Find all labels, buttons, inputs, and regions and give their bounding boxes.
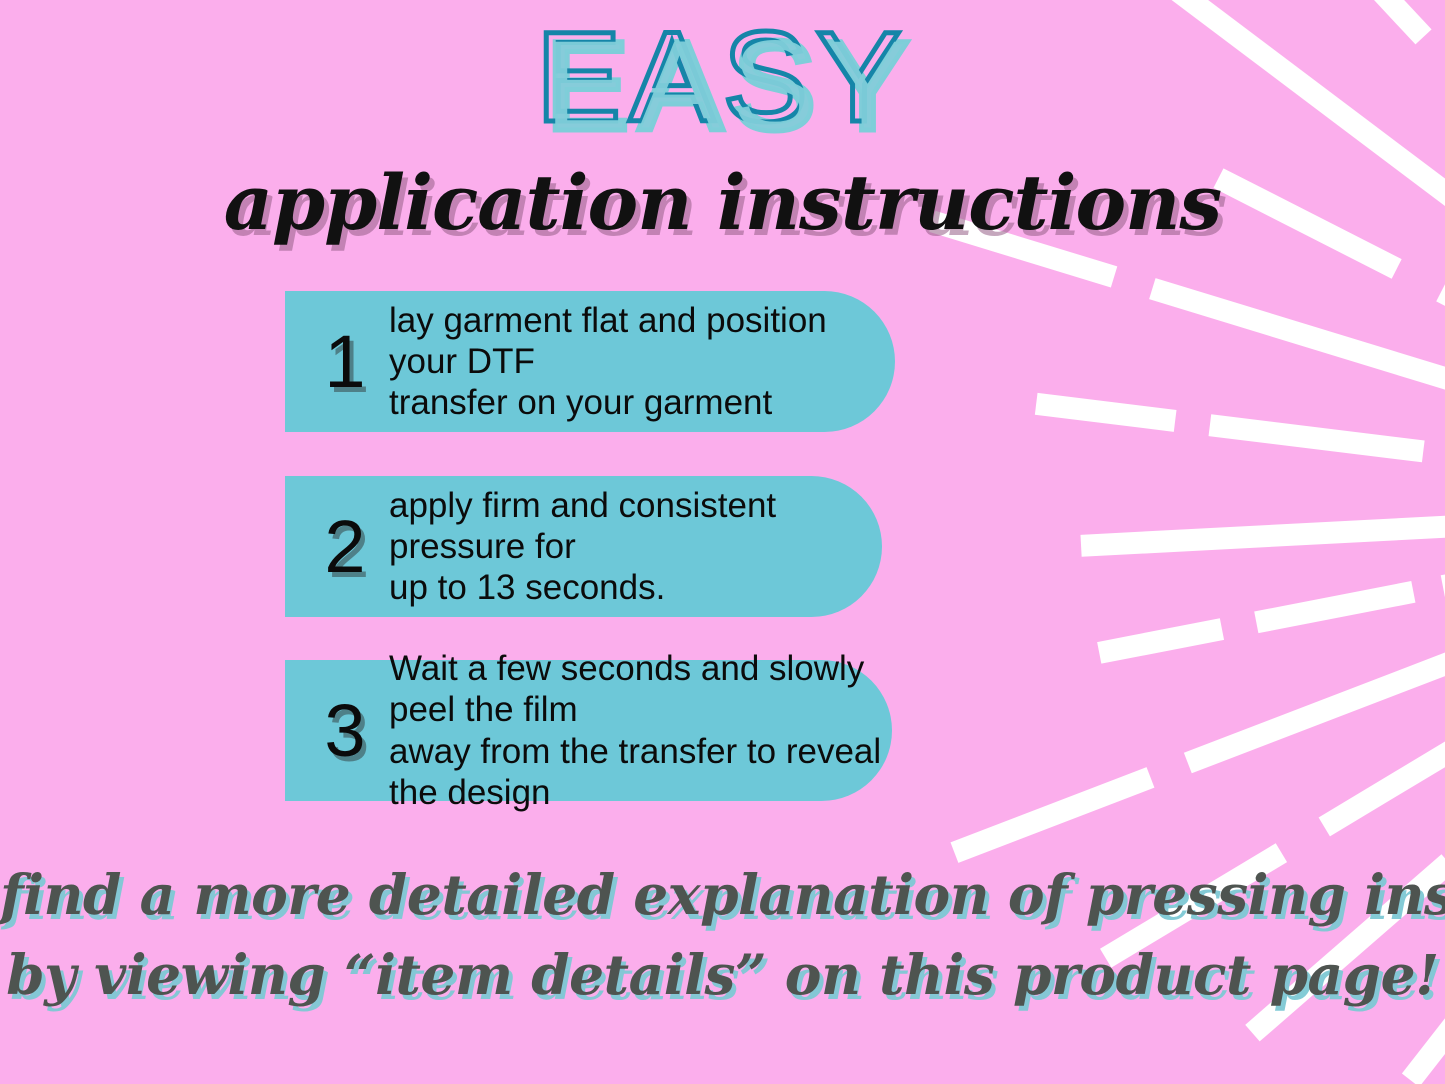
ray-dash-5-0 (1080, 510, 1445, 557)
footer-line-2: by viewing “item details” on this produc… (0, 935, 1445, 1015)
footer-note: find a more detailed explanation of pres… (0, 855, 1445, 1015)
step-text-3: Wait a few seconds and slowly peel the f… (389, 648, 892, 813)
step-item-2: 2 apply firm and consistent pressure for… (285, 476, 882, 617)
ray-dash-6-1 (1209, 414, 1425, 462)
step-item-3: 3 Wait a few seconds and slowly peel the… (285, 660, 892, 801)
poster-canvas: EASY EASY application instructions 1 lay… (0, 0, 1445, 1084)
ray-dash-8-0 (1436, 282, 1445, 370)
step-number-3: 3 (309, 694, 381, 768)
step-number-2: 2 (309, 510, 381, 584)
step-text-1: lay garment flat and position your DTF t… (389, 300, 895, 424)
footer-line-1: find a more detailed explanation of pres… (0, 855, 1445, 935)
ray-dash-4-1 (1254, 581, 1415, 633)
ray-dash-4-0 (1441, 554, 1445, 597)
ray-dash-4-2 (1097, 618, 1224, 663)
ray-dash-3-1 (950, 767, 1154, 863)
step-number-1: 1 (309, 325, 381, 399)
easy-title: EASY (0, 14, 1445, 142)
ray-dash-7-0 (1149, 278, 1445, 428)
headline-application-instructions: application instructions (0, 163, 1445, 243)
ray-dash-6-2 (1035, 393, 1177, 432)
step-item-1: 1 lay garment flat and position your DTF… (285, 291, 895, 432)
step-text-2: apply firm and consistent pressure for u… (389, 485, 882, 609)
ray-dash-3-0 (1184, 602, 1445, 773)
ray-dash-2-1 (1319, 738, 1445, 837)
